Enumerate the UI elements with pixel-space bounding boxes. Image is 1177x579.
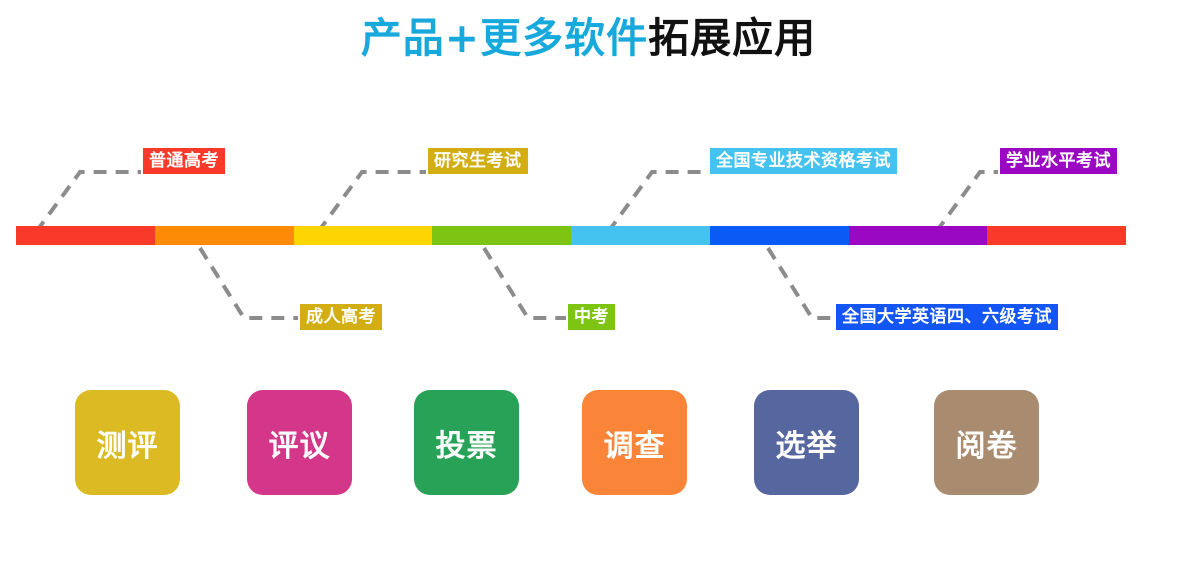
- rainbow-segment-purple: [849, 226, 988, 245]
- connector-chengren-gaokao: [200, 248, 298, 318]
- poster-canvas: 产品+更多软件拓展应用 普通高考研究生考试全国专业技术资格考试学业水平考试成人高…: [0, 0, 1177, 579]
- feature-box-4[interactable]: 选举: [754, 390, 859, 495]
- feature-box-5[interactable]: 阅卷: [934, 390, 1039, 495]
- exam-label-1[interactable]: 研究生考试: [428, 148, 528, 174]
- exam-label-3[interactable]: 学业水平考试: [1000, 148, 1117, 174]
- connector-cet: [768, 248, 834, 318]
- exam-label-0[interactable]: 普通高考: [143, 148, 225, 174]
- title-rest: 拓展应用: [648, 14, 816, 62]
- connector-xueye-shuiping: [936, 172, 998, 232]
- connector-zhuanye-zige: [608, 172, 708, 232]
- rainbow-spectrum-bar: [16, 226, 1126, 245]
- rainbow-segment-yellow: [294, 226, 433, 245]
- rainbow-segment-red: [16, 226, 155, 245]
- feature-box-0[interactable]: 测评: [75, 390, 180, 495]
- rainbow-segment-blue: [710, 226, 849, 245]
- title-highlight: 产品+更多软件: [361, 14, 648, 62]
- exam-label-5[interactable]: 中考: [568, 304, 615, 330]
- connector-yanjiusheng: [318, 172, 426, 232]
- connector-putong-gaokao: [36, 172, 141, 232]
- connector-zhongkao: [484, 248, 566, 318]
- exam-label-4[interactable]: 成人高考: [300, 304, 382, 330]
- feature-box-1[interactable]: 评议: [247, 390, 352, 495]
- exam-label-2[interactable]: 全国专业技术资格考试: [710, 148, 897, 174]
- feature-box-3[interactable]: 调查: [582, 390, 687, 495]
- exam-label-6[interactable]: 全国大学英语四、六级考试: [836, 304, 1058, 330]
- rainbow-segment-cyan: [571, 226, 710, 245]
- page-title: 产品+更多软件拓展应用: [0, 12, 1177, 64]
- rainbow-segment-orange: [155, 226, 294, 245]
- rainbow-segment-green: [432, 226, 571, 245]
- feature-box-2[interactable]: 投票: [414, 390, 519, 495]
- rainbow-segment-red-2: [987, 226, 1126, 245]
